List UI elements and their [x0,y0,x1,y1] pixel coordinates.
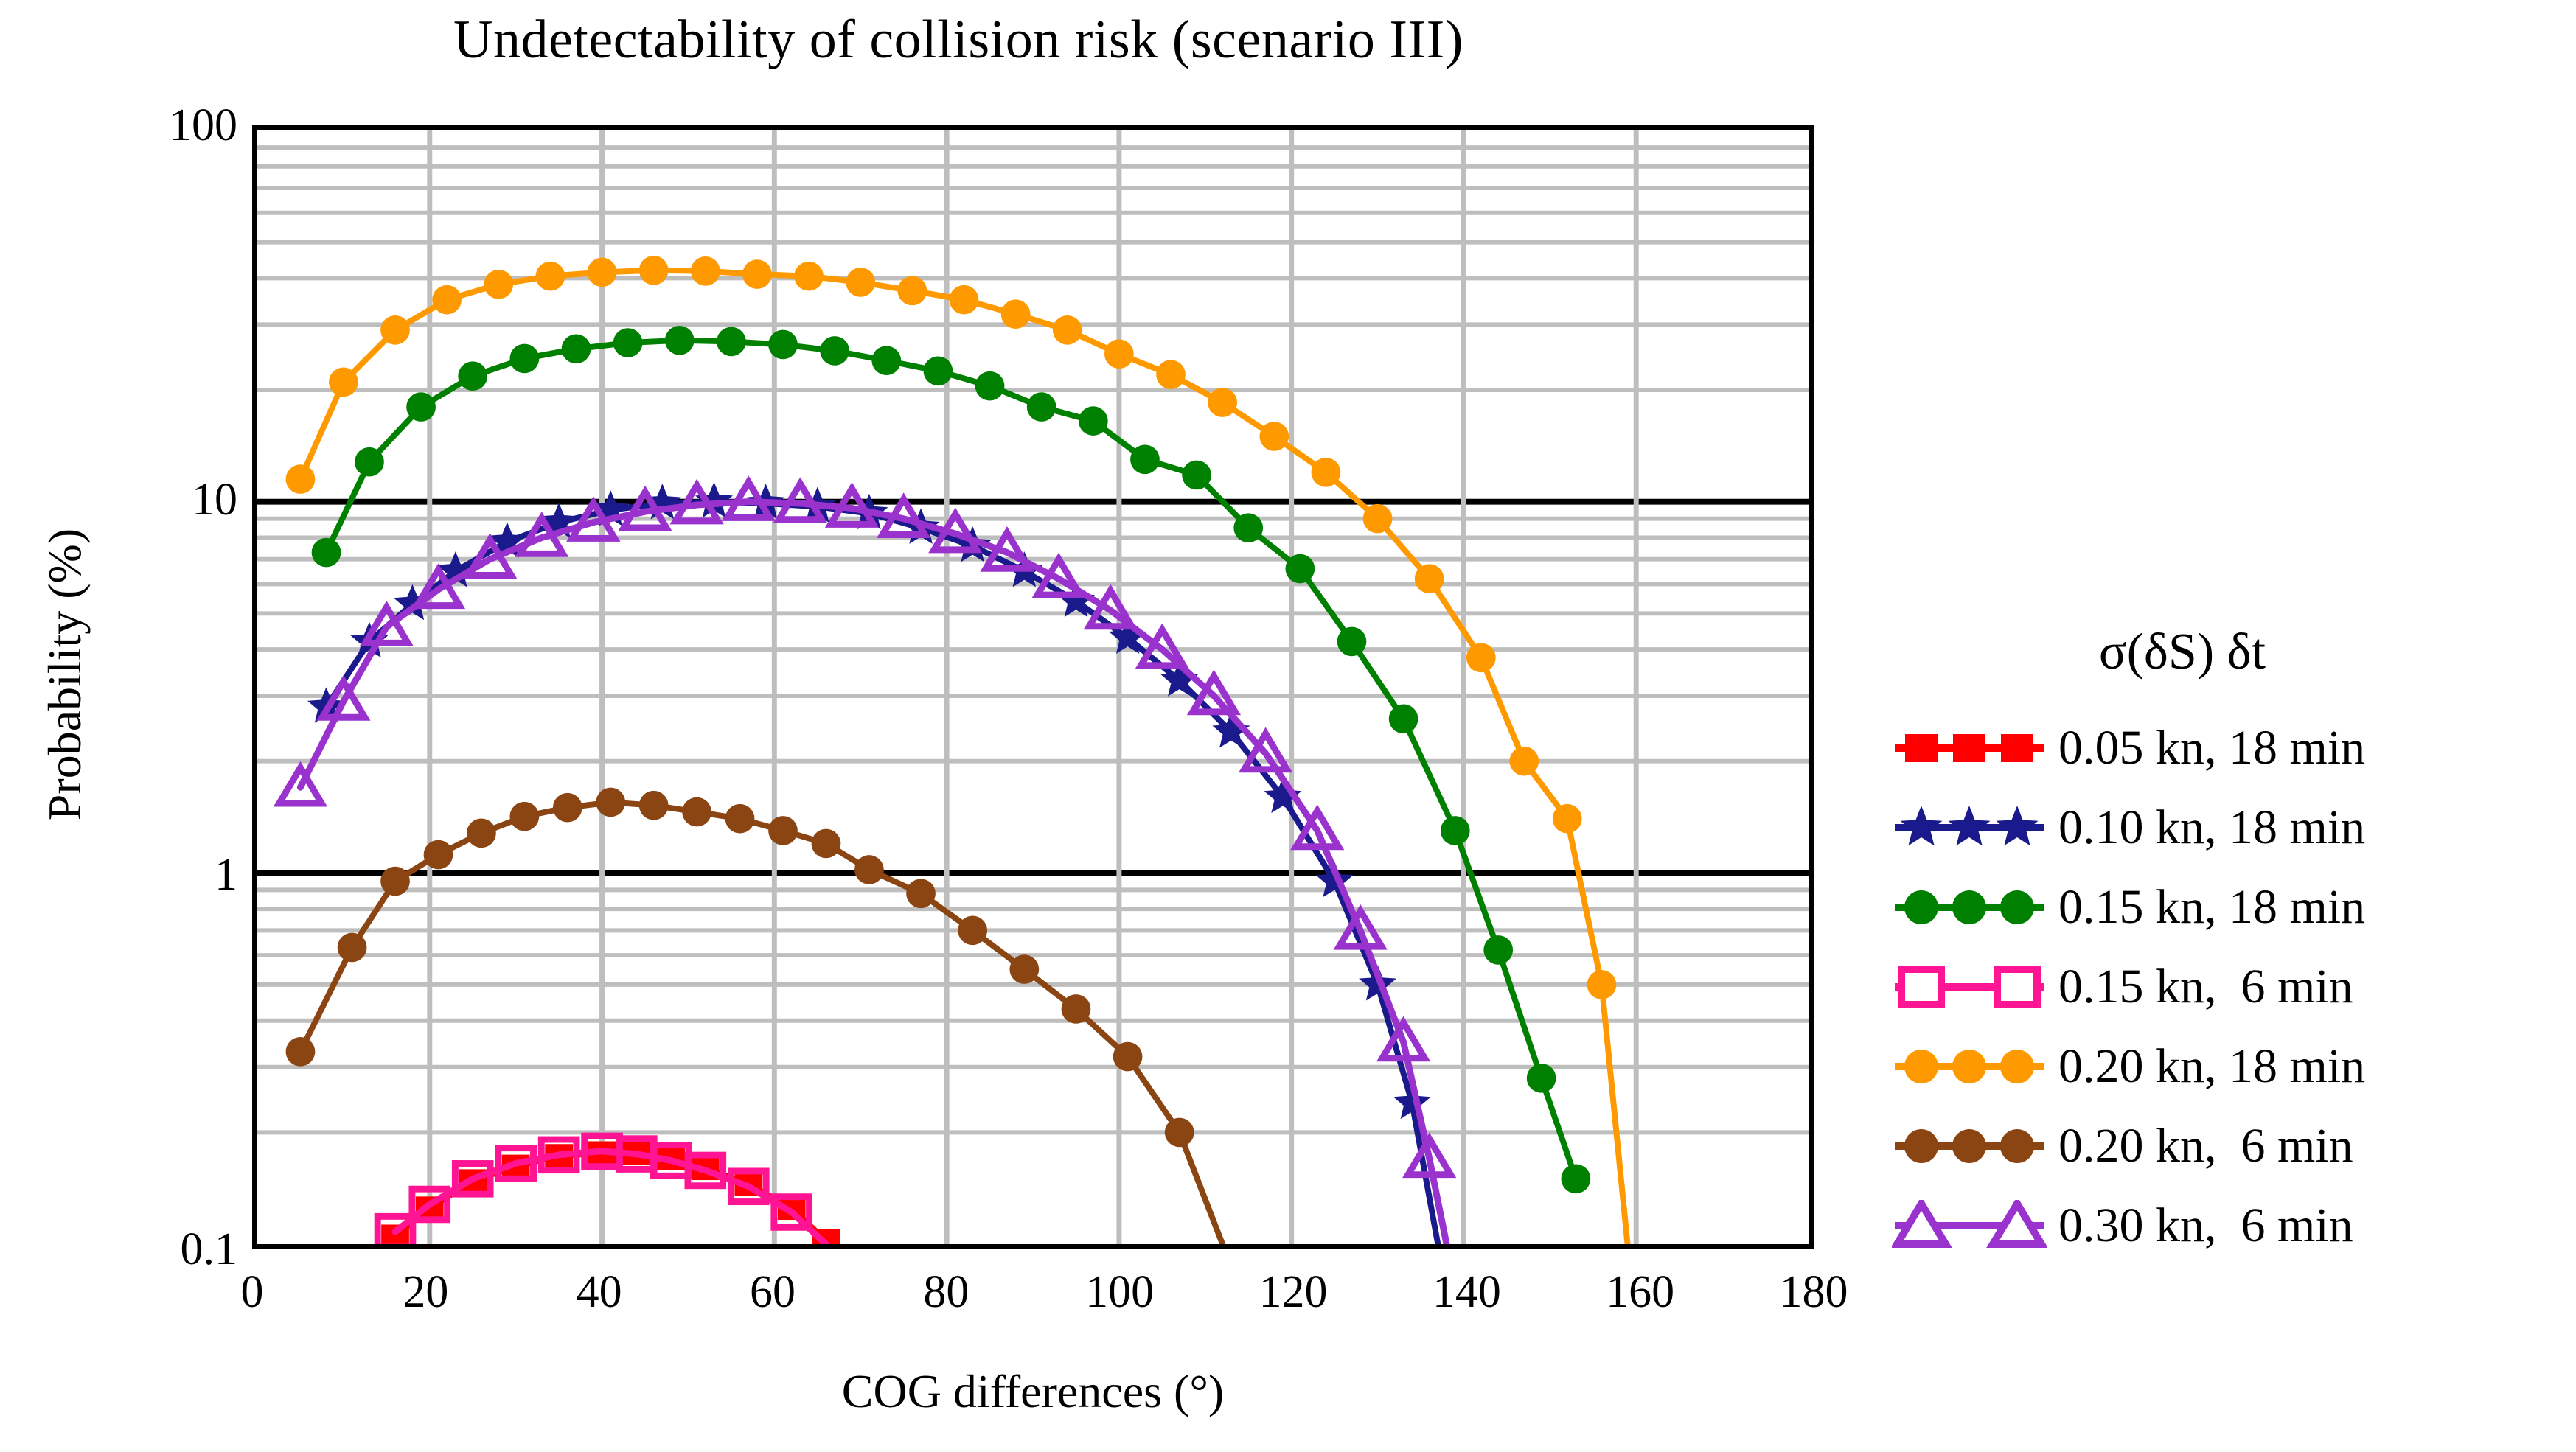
legend-label: 0.20 kn, 18 min [2058,1041,2365,1092]
x-tick-120: 120 [1259,1269,1328,1315]
data-marker [975,371,1005,401]
data-marker [812,829,841,859]
marker-circle [1527,1064,1556,1093]
data-marker [846,268,875,297]
marker-circle [432,285,462,315]
legend-marker [1901,969,1941,1005]
marker-circle [820,336,849,366]
square-filled-icon [1892,722,2047,774]
legend-key-orange-circle [1892,1041,2047,1092]
data-marker [613,328,643,357]
data-marker [1009,954,1039,984]
data-marker [691,256,720,286]
data-marker [355,447,384,477]
legend-row[interactable]: 0.15 kn, 18 min [1865,872,2576,943]
marker-circle [509,344,539,374]
data-marker [338,933,367,963]
marker-circle [1553,804,1582,834]
marker-circle [950,285,979,315]
data-marker [1441,816,1470,845]
data-marker [1509,747,1539,776]
marker-circle [1562,1164,1591,1193]
circle-filled-icon [1892,1041,2047,1092]
legend-marker [2001,734,2033,762]
data-marker [1053,315,1082,345]
y-axis-tick-labels: 1001010.1 [74,0,237,1452]
marker-circle [1079,406,1108,436]
marker-circle [639,256,669,285]
marker-circle [484,270,513,299]
data-marker [458,361,487,391]
gridlines [257,130,1809,1244]
marker-circle [1483,935,1513,965]
marker-circle [1415,564,1444,593]
legend-marker [1952,1129,1986,1163]
marker-circle [380,867,410,896]
data-marker [639,256,669,285]
data-marker [1259,422,1289,451]
marker-circle [338,933,367,963]
marker-circle [725,804,755,834]
x-tick-20: 20 [403,1269,448,1315]
marker-circle [1233,513,1263,542]
data-marker [924,356,953,385]
legend-key-red-square [1892,722,2047,774]
marker-circle [1312,458,1341,487]
marker-circle [691,256,720,286]
data-marker [742,259,772,289]
plot-area [252,125,1814,1249]
legend-key-pink-square-open [1892,961,2047,1013]
legend-marker [2000,1129,2034,1163]
chart-page: Undetectability of collision risk (scena… [0,0,2576,1452]
x-tick-180: 180 [1780,1269,1848,1315]
marker-circle [1009,954,1039,984]
data-marker [1466,643,1496,672]
legend-row[interactable]: 0.10 kn, 18 min [1865,792,2576,863]
marker-circle [906,879,936,908]
legend-header: σ(δS) δt [1865,623,2499,682]
legend-label: 0.30 kn, 6 min [2058,1200,2353,1252]
data-marker [1208,388,1237,417]
legend-marker [1997,806,2039,845]
data-marker [424,840,453,870]
triangle-open-icon [1892,1200,2047,1252]
legend-marker [1904,1050,1938,1083]
data-marker [562,335,591,364]
legend-row[interactable]: 0.20 kn, 6 min [1865,1111,2576,1182]
series-5 [286,256,1628,1244]
x-tick-100: 100 [1085,1269,1154,1315]
data-marker [1389,705,1418,734]
marker-circle [1208,388,1237,417]
legend-marker [1905,734,1938,762]
square-open-icon [1892,961,2047,1013]
data-marker [1130,444,1160,474]
data-marker [380,315,410,345]
x-tick-60: 60 [750,1269,796,1315]
legend-label: 0.15 kn, 18 min [2058,882,2365,933]
marker-circle [553,793,582,823]
data-marker [1562,1164,1591,1193]
x-tick-80: 80 [923,1269,969,1315]
data-marker [958,916,987,946]
marker-circle [329,368,358,397]
marker-circle [1587,970,1617,999]
legend-marker [1901,806,1943,845]
marker-circle [1165,1118,1194,1148]
marker-circle [975,371,1005,401]
legend-label: 0.20 kn, 6 min [2058,1120,2353,1172]
marker-circle [536,262,565,291]
data-marker [665,326,695,355]
marker-circle [1156,360,1186,389]
marker-circle [924,356,953,385]
marker-circle [312,538,341,568]
marker-circle [1113,1042,1143,1072]
data-marker [1165,1118,1194,1148]
data-marker [1027,392,1056,422]
marker-circle [665,326,695,355]
marker-circle [1389,705,1418,734]
data-marker [1527,1064,1556,1093]
data-marker [950,285,979,315]
marker-circle [286,464,316,494]
marker-circle [897,276,927,306]
marker-circle [1104,339,1134,369]
y-axis-title: Probability (%) [39,416,91,932]
legend-row[interactable]: 0.15 kn, 6 min [1865,952,2576,1022]
data-marker [509,802,539,831]
data-marker [1415,564,1444,593]
data-marker [1233,513,1263,542]
data-marker [536,262,565,291]
legend-marker [1949,806,1991,845]
legend-key-navy-star [1892,802,2047,854]
marker-circle [596,788,625,817]
marker-circle [812,829,841,859]
marker-circle [958,916,987,946]
marker-circle [380,315,410,345]
marker-circle [794,262,824,291]
y-tick-100: 100 [169,102,237,148]
marker-circle [846,268,875,297]
marker-circle [1509,747,1539,776]
legend-marker [2000,890,2034,924]
data-marker [768,816,798,845]
y-tick-10: 10 [192,477,237,523]
marker-circle [1363,504,1393,534]
marker-circle [768,816,798,845]
data-marker [1337,627,1367,657]
data-marker [1104,339,1134,369]
marker-circle [1259,422,1289,451]
legend-marker [1904,1129,1938,1163]
data-marker [467,819,496,848]
data-marker [682,797,711,827]
marker-circle [742,259,772,289]
circle-filled-icon [1892,1120,2047,1172]
star-filled-icon [1892,802,2047,854]
legend-key-green-circle [1892,882,2047,933]
marker-circle [768,330,798,360]
y-tick-0.1: 0.1 [181,1226,238,1272]
data-marker [406,392,436,422]
data-marker [596,788,625,817]
marker-circle [1337,627,1367,657]
data-marker [906,879,936,908]
legend-row[interactable]: 0.20 kn, 18 min [1865,1031,2576,1102]
marker-circle [355,447,384,477]
marker-circle [1062,994,1091,1024]
data-marker [794,262,824,291]
plot-canvas [257,130,1809,1244]
marker-circle [717,327,746,357]
data-marker [854,855,884,884]
legend-label: 0.15 kn, 6 min [2058,961,2353,1013]
data-marker [717,327,746,357]
data-marker [286,1037,316,1067]
legend-label: 0.10 kn, 18 min [2058,802,2365,854]
data-marker [1312,458,1341,487]
data-marker [725,804,755,834]
marker-circle [1466,643,1496,672]
marker-circle [424,840,453,870]
data-marker [1182,461,1211,490]
legend-row[interactable]: 0.05 kn, 18 min [1865,713,2576,783]
x-tick-40: 40 [577,1269,622,1315]
data-marker [1553,804,1582,834]
data-marker [1079,406,1108,436]
marker-circle [1130,444,1160,474]
chart-title: Undetectability of collision risk (scena… [0,6,1917,74]
marker-circle [562,335,591,364]
x-tick-0: 0 [241,1269,264,1315]
marker-circle [286,1037,316,1067]
legend-row[interactable]: 0.30 kn, 6 min [1865,1190,2576,1261]
y-tick-1: 1 [215,852,237,898]
marker-circle [1441,816,1470,845]
data-marker [871,346,901,375]
data-marker [820,336,849,366]
x-axis-title: COG differences (°) [252,1364,1814,1420]
legend-marker [1904,890,1938,924]
legend-marker [1952,1050,1986,1083]
data-marker [432,285,462,315]
data-marker [1062,994,1091,1024]
circle-filled-icon [1892,882,2047,933]
marker-circle [639,791,669,820]
marker-circle [1053,315,1082,345]
marker-circle [1182,461,1211,490]
data-marker [1001,299,1031,329]
data-marker [380,867,410,896]
marker-circle [1027,392,1056,422]
legend-marker [1952,890,1986,924]
marker-circle [1001,299,1031,329]
marker-circle [458,361,487,391]
data-marker [329,368,358,397]
legend-label: 0.05 kn, 18 min [2058,722,2365,774]
legend-key-brown-circle [1892,1120,2047,1172]
data-marker [1113,1042,1143,1072]
data-marker [897,276,927,306]
marker-circle [406,392,436,422]
x-tick-160: 160 [1606,1269,1674,1315]
x-tick-140: 140 [1433,1269,1501,1315]
legend-marker [2000,1050,2034,1083]
marker-circle [509,802,539,831]
marker-circle [467,819,496,848]
data-marker [639,791,669,820]
data-marker [1587,970,1617,999]
data-marker [286,464,316,494]
legend-marker [1997,969,2037,1005]
marker-circle [1285,554,1315,584]
marker-circle [613,328,643,357]
data-marker [312,538,341,568]
data-marker [509,344,539,374]
data-marker [553,793,582,823]
data-marker [1363,504,1393,534]
marker-circle [588,258,617,287]
data-marker [588,258,617,287]
data-marker [484,270,513,299]
data-marker [1285,554,1315,584]
chart-legend: σ(δS) δt 0.05 kn, 18 min0.10 kn, 18 min0… [1865,623,2576,1286]
data-marker [1483,935,1513,965]
marker-circle [854,855,884,884]
marker-circle [871,346,901,375]
data-marker [768,330,798,360]
data-marker [1156,360,1186,389]
legend-key-purple-triangle-open [1892,1200,2047,1252]
legend-marker [1953,734,1985,762]
marker-circle [682,797,711,827]
